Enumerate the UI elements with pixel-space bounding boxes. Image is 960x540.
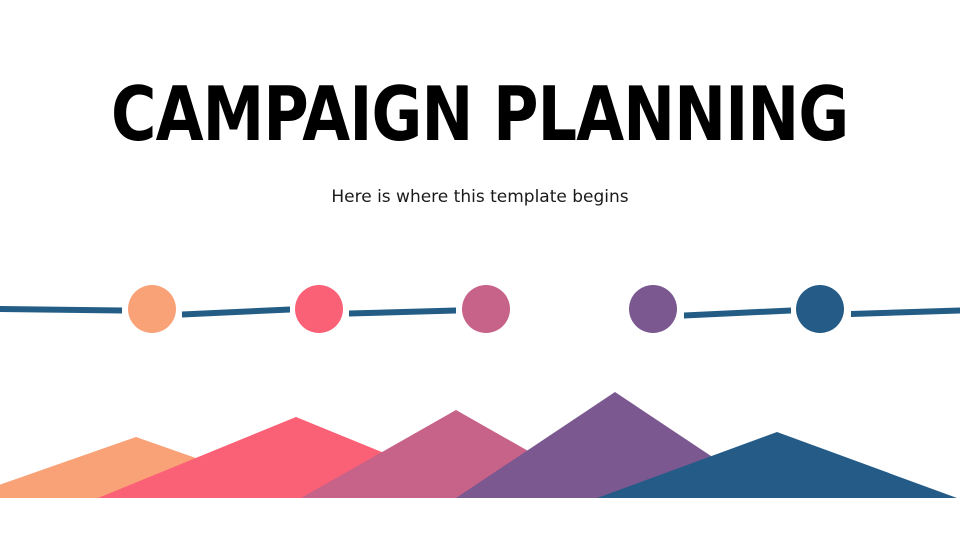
title-container: CAMPAIGN PLANNING bbox=[0, 78, 960, 150]
mountain-range-svg bbox=[0, 370, 960, 540]
page-title: CAMPAIGN PLANNING bbox=[111, 77, 848, 152]
subtitle-container: Here is where this template begins bbox=[0, 186, 960, 208]
timeline-dot-3 bbox=[462, 285, 510, 333]
timeline-connector-1 bbox=[182, 307, 290, 318]
slide-canvas: CAMPAIGN PLANNING Here is where this tem… bbox=[0, 0, 960, 540]
timeline-connector-2 bbox=[349, 308, 456, 317]
timeline-dot-group bbox=[128, 285, 844, 333]
timeline-decoration bbox=[0, 270, 960, 350]
timeline-dot-2 bbox=[295, 285, 343, 333]
mountain-group bbox=[0, 392, 957, 498]
slide-subtitle: Here is where this template begins bbox=[331, 186, 628, 208]
timeline-connector-0 bbox=[0, 306, 122, 314]
timeline-dot-5 bbox=[796, 285, 844, 333]
timeline-svg bbox=[0, 270, 960, 350]
timeline-connector-4 bbox=[851, 308, 960, 318]
timeline-dot-4 bbox=[629, 285, 677, 333]
mountain-range-decoration bbox=[0, 370, 960, 540]
timeline-connector-3 bbox=[684, 308, 791, 319]
timeline-dot-1 bbox=[128, 285, 176, 333]
